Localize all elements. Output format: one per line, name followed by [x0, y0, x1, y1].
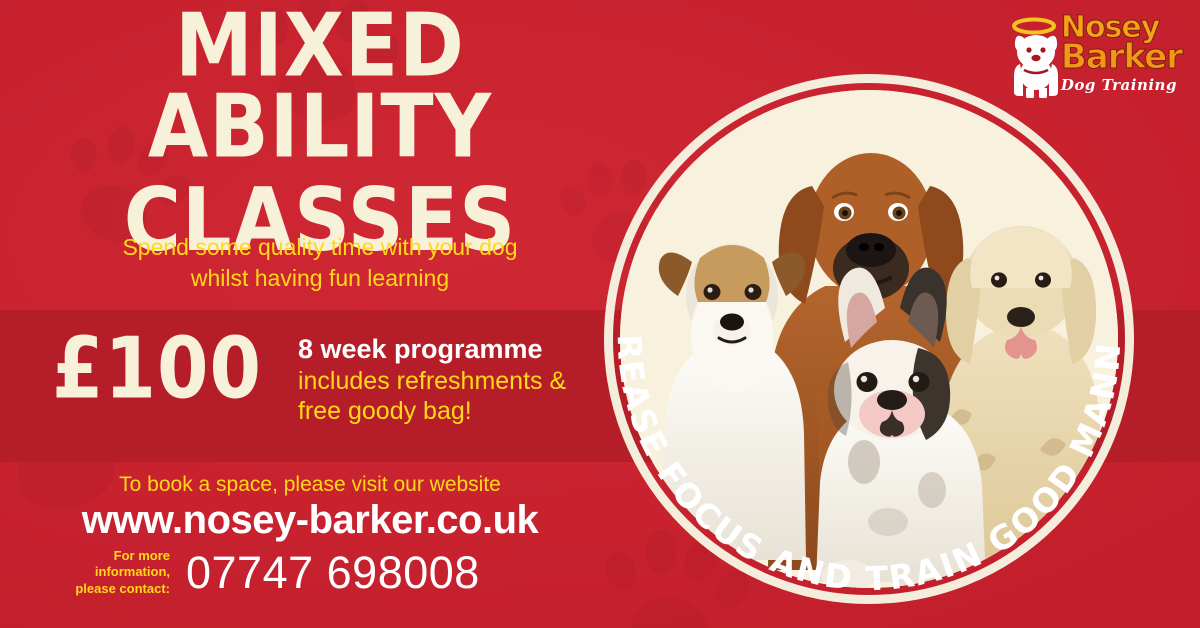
programme-title: 8 week programme [298, 334, 566, 366]
price-value: £100 [52, 327, 262, 411]
contact-label-line-3: please contact: [60, 581, 170, 597]
brand-name-line-2: Barker [1061, 42, 1182, 73]
brand-logo[interactable]: Nosey Barker Dog Training [998, 8, 1188, 100]
headline-line-1: MIXED ABILITY [0, 7, 640, 168]
booking-prompt: To book a space, please visit our websit… [0, 473, 620, 497]
brand-tagline: Dog Training [1061, 76, 1182, 94]
contact-label-line-2: information, [60, 564, 170, 580]
programme-detail-1: includes refreshments & [298, 366, 566, 396]
contact-label-line-1: For more [60, 548, 170, 564]
subheading-line-2: whilst having fun learning [0, 263, 640, 294]
programme-details: 8 week programme includes refreshments &… [298, 334, 566, 426]
subheading-line-1: Spend some quality time with your dog [0, 232, 640, 263]
website-url[interactable]: www.nosey-barker.co.uk [0, 498, 620, 543]
badge-ring [604, 74, 1134, 604]
programme-detail-2: free goody bag! [298, 396, 566, 426]
brand-wordmark: Nosey Barker Dog Training [1061, 14, 1182, 94]
offer-block: £100 8 week programme includes refreshme… [0, 330, 640, 426]
subheading: Spend some quality time with your dog wh… [0, 232, 640, 294]
contact-label: For more information, please contact: [60, 548, 170, 597]
poster-canvas: INCREASE FOCUS AND TRAIN GOOD MANNERS MI… [0, 0, 1200, 628]
page-title: MIXED ABILITY CLASSES [0, 16, 640, 257]
phone-number[interactable]: 07747 698008 [186, 550, 480, 595]
contact-block: For more information, please contact: 07… [60, 548, 620, 597]
